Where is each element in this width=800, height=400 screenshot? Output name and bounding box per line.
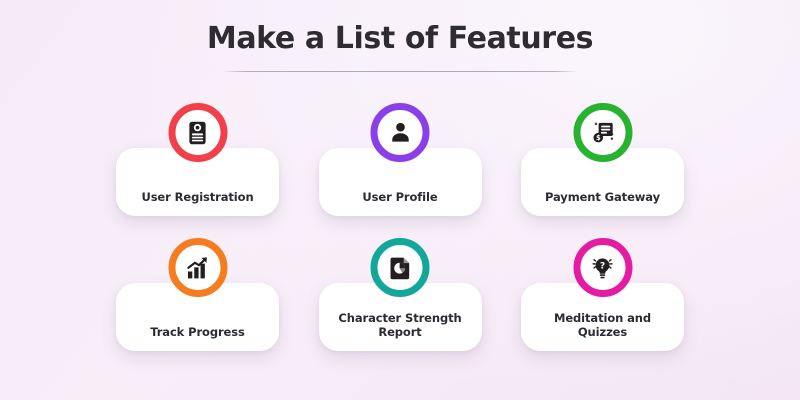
- icon-ring: [371, 103, 430, 162]
- feature-card-user-profile[interactable]: User Profile: [319, 103, 482, 238]
- feature-label: User Profile: [362, 190, 437, 205]
- feature-card-meditation-and-quizzes[interactable]: Meditation and Quizzes ?: [521, 238, 684, 373]
- feature-card-track-progress[interactable]: Track Progress: [116, 238, 279, 373]
- feature-card-payment-gateway[interactable]: Payment Gateway $: [521, 103, 684, 238]
- svg-text:?: ?: [600, 261, 605, 271]
- id-card-icon: [185, 120, 211, 146]
- icon-ring: [168, 103, 227, 162]
- feature-label: Track Progress: [150, 325, 244, 340]
- bar-chart-growth-icon: [185, 255, 211, 281]
- feature-label: Payment Gateway: [545, 190, 660, 205]
- feature-list-infographic: Make a List of Features User Registratio…: [0, 0, 800, 400]
- title-divider: [224, 71, 576, 72]
- lightbulb-question-icon: ?: [590, 255, 616, 281]
- header: Make a List of Features: [0, 22, 800, 72]
- feature-label: Meditation and Quizzes: [554, 311, 651, 340]
- feature-label: User Registration: [141, 190, 253, 205]
- payment-invoice-icon: $: [590, 120, 616, 146]
- feature-label: Character Strength Report: [338, 311, 461, 340]
- report-pie-document-icon: [387, 255, 413, 281]
- page-title: Make a List of Features: [0, 22, 800, 57]
- icon-ring: ?: [573, 238, 632, 297]
- icon-ring: [168, 238, 227, 297]
- feature-card-character-strength-report[interactable]: Character Strength Report: [319, 238, 482, 373]
- user-avatar-icon: [387, 120, 413, 146]
- feature-grid: User Registration: [100, 103, 700, 373]
- feature-card-user-registration[interactable]: User Registration: [116, 103, 279, 238]
- icon-ring: $: [573, 103, 632, 162]
- svg-text:$: $: [596, 134, 601, 142]
- icon-ring: [371, 238, 430, 297]
